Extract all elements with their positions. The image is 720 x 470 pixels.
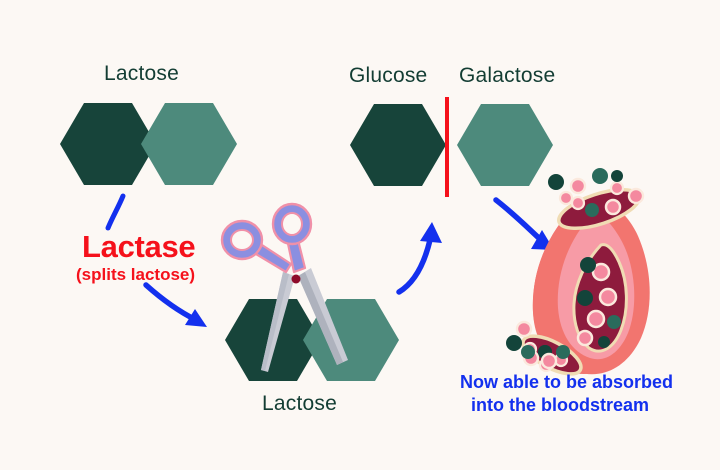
molecule-green-free [521, 345, 535, 359]
arrow-lactase-to-split-lactose-head [185, 309, 207, 327]
galactose-hexagon [457, 104, 553, 186]
lactose-bottom-galactose-hexagon [303, 299, 399, 381]
molecule-green-in-vessel [598, 336, 610, 348]
bloodstream-caption-line2: into the bloodstream [460, 394, 660, 417]
molecule-green-in-vessel [607, 315, 621, 329]
molecule-green-free [592, 168, 608, 184]
vessel-inner-highlight [558, 213, 635, 359]
molecule-pink-free [611, 182, 623, 194]
molecule-pink-free [517, 322, 531, 336]
lactose-bottom-label: Lactose [262, 392, 337, 416]
glucose-label: Glucose [349, 64, 427, 88]
molecule-green-free [548, 174, 564, 190]
lactase-subtitle: (splits lactose) [76, 265, 195, 285]
molecule-pink-in-vessel-bottom [540, 359, 552, 371]
vessel-outer-wall [533, 202, 617, 357]
molecule-green-in-vessel [580, 257, 596, 273]
molecule-pink-in-vessel [593, 264, 609, 280]
diagram-canvas: Lactose [0, 0, 720, 470]
molecule-pink-free [524, 351, 538, 365]
lactase-title: Lactase [82, 229, 195, 265]
bloodstream-caption-line1: Now able to be absorbed [460, 371, 660, 394]
lactose-top-galactose-hexagon [141, 103, 237, 185]
arrow-lactose-to-lactase [108, 196, 123, 228]
molecule-pink-free [560, 192, 572, 204]
molecule-green-free [506, 335, 522, 351]
molecule-pink-free [571, 179, 585, 193]
arrow-split-to-products [399, 240, 430, 292]
lactose-top-glucose-hexagon [60, 103, 156, 185]
arrow-products-to-bloodstream-head [531, 230, 554, 250]
red-divider-line [445, 97, 449, 197]
arrow-split-to-products-head [420, 222, 442, 243]
vessel-outer-wall-right [552, 209, 647, 374]
molecule-green-free [611, 170, 623, 182]
molecule-pink-in-vessel-bottom [555, 354, 567, 366]
molecule-pink-in-vessel [578, 331, 592, 345]
scissors-pivot [292, 275, 301, 284]
molecule-green-free [556, 345, 570, 359]
molecule-pink-free [629, 189, 643, 203]
molecule-pink-free [542, 354, 556, 368]
vessel-lumen-channel [574, 245, 627, 351]
molecule-green-in-vessel-bottom [538, 345, 552, 359]
blood-vessel-icon [506, 168, 650, 382]
molecule-pink-in-vessel-top [606, 200, 620, 214]
molecule-green-in-vessel [577, 290, 593, 306]
glucose-hexagon [350, 104, 446, 186]
molecule-pink-in-vessel [600, 289, 616, 305]
galactose-label: Galactose [459, 64, 555, 88]
arrow-products-to-bloodstream [496, 200, 541, 240]
vessel-top-opening [554, 182, 643, 236]
molecule-pink-in-vessel [588, 311, 604, 327]
lactose-bottom-glucose-hexagon [225, 299, 321, 381]
vessel-body-fill [533, 197, 650, 374]
lactose-top-label: Lactose [104, 62, 179, 86]
molecule-green-free [538, 345, 552, 359]
molecule-pink-in-vessel-bottom [524, 343, 536, 355]
molecule-green-in-vessel-top [585, 203, 599, 217]
scissors-icon [222, 204, 348, 372]
molecule-pink-in-vessel-top [572, 197, 584, 209]
arrow-lactase-to-split-lactose [146, 285, 196, 320]
